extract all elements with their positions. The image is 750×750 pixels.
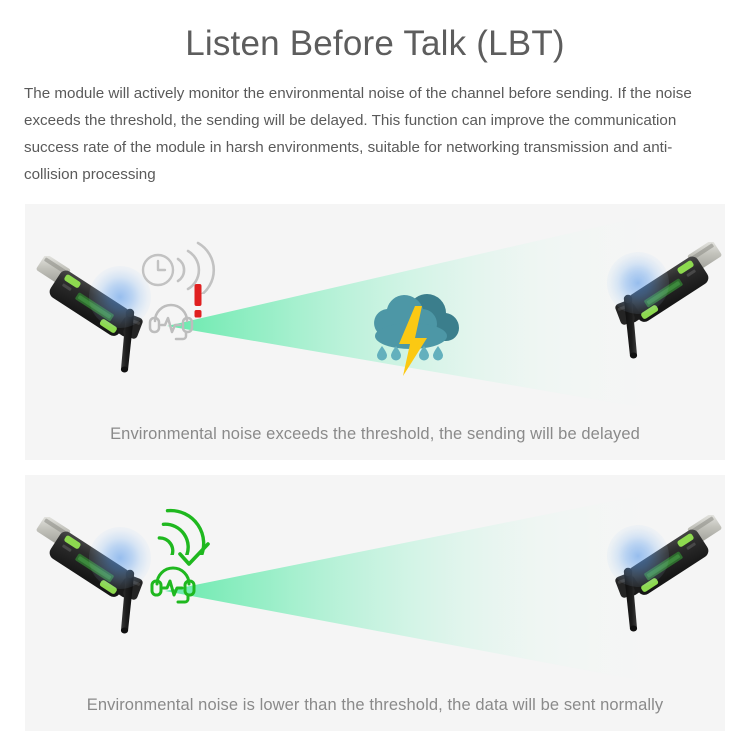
transmission-beam-icon (165, 493, 645, 683)
panel-caption: Environmental noise is lower than the th… (25, 696, 725, 715)
usb-lora-module-right (577, 515, 725, 645)
antenna-glow-icon (607, 252, 669, 314)
page-title: Listen Before Talk (LBT) (24, 0, 726, 66)
antenna-glow-icon (607, 525, 669, 587)
scene-sending (25, 475, 725, 680)
panel-noise-exceeds: Environmental noise exceeds the threshol… (25, 204, 725, 460)
storm-cloud-icon (363, 282, 469, 378)
check-mark-icon (177, 541, 211, 569)
antenna-glow-icon (89, 527, 151, 589)
scene-blocked (25, 204, 725, 409)
usb-lora-module-right (577, 242, 725, 372)
header-section: Listen Before Talk (LBT) The module will… (0, 0, 750, 188)
panel-noise-lower: Environmental noise is lower than the th… (25, 475, 725, 731)
panels-container: Environmental noise exceeds the threshol… (0, 204, 750, 731)
exclamation-mark-icon (191, 282, 205, 320)
panel-caption: Environmental noise exceeds the threshol… (25, 425, 725, 444)
intro-paragraph: The module will actively monitor the env… (24, 80, 726, 188)
lbt-infographic-page: Listen Before Talk (LBT) The module will… (0, 0, 750, 750)
clock-icon (137, 236, 222, 294)
